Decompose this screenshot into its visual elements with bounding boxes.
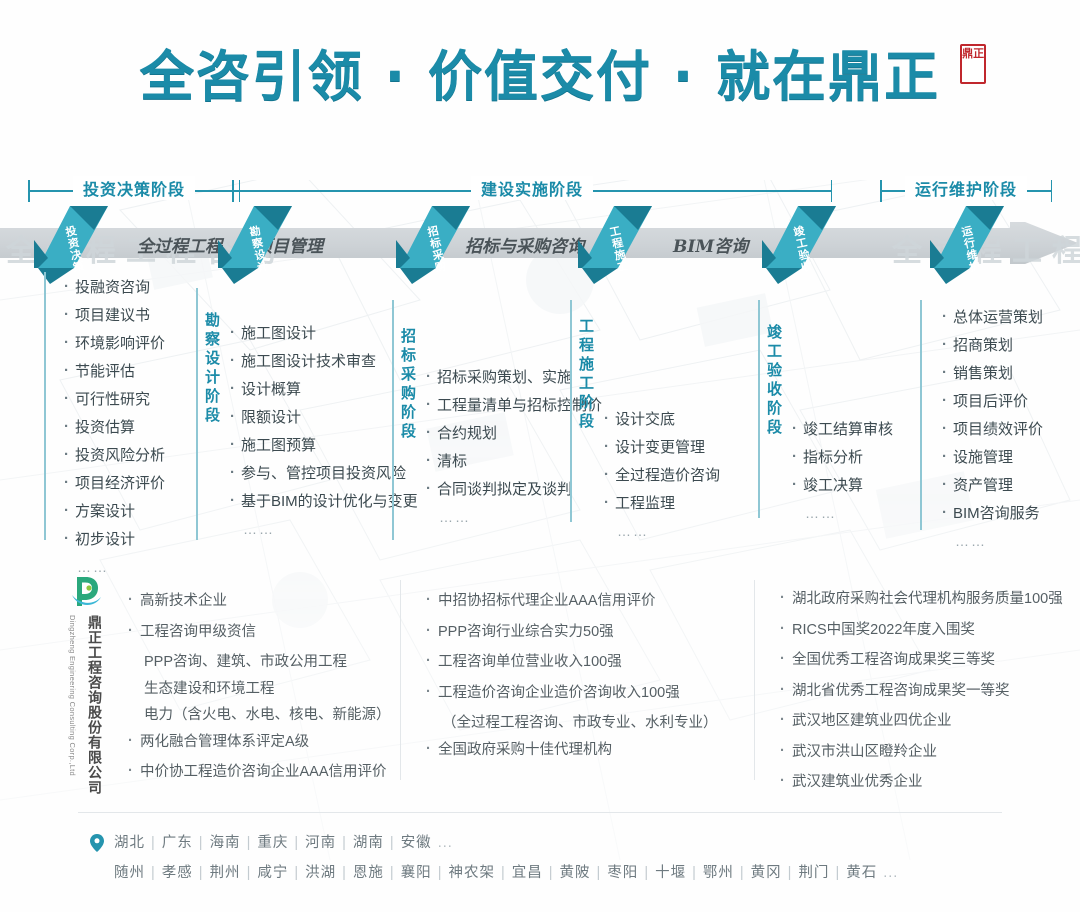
service-item: 施工图设计	[228, 326, 418, 341]
location-city: 宜昌	[512, 865, 543, 881]
separator: |	[336, 865, 353, 881]
service-item: 初步设计	[62, 532, 165, 547]
service-item: 基于BIM的设计优化与变更	[228, 494, 418, 509]
credentials-middle: 中招协招标代理企业AAA信用评价 PPP咨询行业综合实力50强 工程咨询单位营业…	[424, 594, 744, 773]
ribbon-bidding-procurement: 招标采购	[396, 206, 470, 284]
ribbon-construction: 工程施工	[578, 206, 652, 284]
column-rule	[758, 300, 760, 518]
credential-item: 工程咨询单位营业收入100强	[424, 655, 744, 670]
service-item-more: ……	[62, 560, 165, 574]
column-vertical-label: 招标采购阶段	[398, 328, 419, 442]
service-item: 招商策划	[940, 338, 1043, 353]
separator: |	[241, 835, 258, 851]
location-city: 荆州	[210, 865, 241, 881]
location-city: 黄冈	[751, 865, 782, 881]
service-item: 工程监理	[602, 496, 720, 511]
service-item: 竣工结算审核	[790, 422, 893, 437]
location-city: 黄石	[846, 865, 877, 881]
service-item-more: ……	[602, 524, 720, 538]
phase-bracket-operation: 运行维护阶段	[880, 176, 1052, 206]
credential-item: 工程造价咨询企业造价咨询收入100强	[424, 686, 744, 701]
location-province: 河南	[305, 835, 336, 851]
service-item: 项目绩效评价	[940, 422, 1043, 437]
phase-label-operation: 运行维护阶段	[905, 176, 1027, 200]
service-item-more: ……	[790, 506, 893, 520]
separator: |	[193, 865, 210, 881]
column-items: 施工图设计 施工图设计技术审查 设计概算 限额设计 施工图预算 参与、管控项目投…	[228, 326, 418, 549]
location-city: 随州	[114, 865, 145, 881]
credential-item: 武汉建筑业优秀企业	[778, 775, 1078, 790]
service-item: 参与、管控项目投资风险	[228, 466, 418, 481]
service-item: 方案设计	[62, 504, 165, 519]
column-rule	[920, 300, 922, 530]
band-label-whole-process: 全过程工程	[137, 232, 222, 257]
service-item: BIM咨询服务	[940, 506, 1043, 521]
service-item: 设计变更管理	[602, 440, 720, 455]
credential-item: 工程咨询甲级资信	[126, 625, 396, 640]
service-item: 投资估算	[62, 420, 165, 435]
service-item-more: ……	[424, 510, 602, 524]
location-province: 湖北	[114, 835, 145, 851]
separator: |	[193, 835, 210, 851]
service-item: 施工图预算	[228, 438, 418, 453]
band-label-bidding-procurement: 招标与采购咨询	[465, 232, 584, 257]
column-rule	[44, 272, 46, 540]
column-rule	[392, 300, 394, 540]
location-city: 恩施	[353, 865, 384, 881]
company-seal-stamp: 鼎正	[960, 44, 986, 84]
location-city: 咸宁	[257, 865, 288, 881]
service-item: 项目经济评价	[62, 476, 165, 491]
bracket-cap-left	[28, 180, 30, 202]
page-title-text: 全咨引领 · 价值交付 · 就在鼎正	[140, 45, 940, 108]
locations-cities-more: ...	[877, 865, 898, 881]
credential-subitem: PPP咨询、建筑、市政公用工程	[126, 655, 396, 670]
column-rule	[570, 300, 572, 522]
credential-subitem: （全过程工程咨询、市政专业、水利专业）	[424, 716, 744, 731]
separator: |	[384, 835, 401, 851]
locations-block: 湖北|广东|海南|重庆|河南|湖南|安徽... 随州|孝感|荆州|咸宁|洪湖|恩…	[114, 828, 898, 888]
phase-brackets: 投资决策阶段 建设实施阶段 运行维护阶段	[0, 176, 1080, 208]
credential-item: 中招协招标代理企业AAA信用评价	[424, 594, 744, 609]
credentials-divider-left	[400, 580, 401, 780]
separator: |	[288, 865, 305, 881]
location-province: 广东	[162, 835, 193, 851]
locations-provinces-row: 湖北|广东|海南|重庆|河南|湖南|安徽...	[114, 828, 898, 858]
location-city: 襄阳	[401, 865, 432, 881]
column-items: 总体运营策划 招商策划 销售策划 项目后评价 项目绩效评价 设施管理 资产管理 …	[940, 310, 1043, 561]
band-label-bim: BIM咨询	[673, 232, 748, 257]
locations-cities-row: 随州|孝感|荆州|咸宁|洪湖|恩施|襄阳|神农架|宜昌|黄陂|枣阳|十堰|鄂州|…	[114, 858, 898, 888]
service-item: 项目建议书	[62, 308, 165, 323]
service-item: 项目后评价	[940, 394, 1043, 409]
separator: |	[543, 865, 560, 881]
separator: |	[241, 865, 258, 881]
location-city: 荆门	[798, 865, 829, 881]
service-item: 设计交底	[602, 412, 720, 427]
location-city: 神农架	[448, 865, 495, 881]
service-item: 投资风险分析	[62, 448, 165, 463]
service-item: 合同谈判拟定及谈判	[424, 482, 602, 497]
location-province: 海南	[210, 835, 241, 851]
separator: |	[384, 865, 401, 881]
location-city: 洪湖	[305, 865, 336, 881]
ribbon-survey-design: 勘察设计	[218, 206, 292, 284]
credential-item: RICS中国奖2022年度入围奖	[778, 623, 1078, 638]
service-item: 总体运营策划	[940, 310, 1043, 325]
bracket-cap-left	[880, 180, 882, 202]
separator: |	[591, 865, 608, 881]
phase-label-construction: 建设实施阶段	[471, 176, 593, 200]
locations-divider	[78, 812, 1002, 813]
credential-item: 高新技术企业	[126, 594, 396, 609]
separator: |	[145, 835, 162, 851]
bracket-cap-right	[1051, 180, 1053, 202]
phase-bracket-construction: 建设实施阶段	[232, 176, 832, 206]
credential-item: 湖北政府采购社会代理机构服务质量100强	[778, 592, 1078, 607]
column-rule	[196, 288, 198, 540]
infographic-page: 全咨引领 · 价值交付 · 就在鼎正 鼎正 投资决策阶段 建设实施阶段 运行维护…	[0, 0, 1080, 912]
location-province: 湖南	[353, 835, 384, 851]
column-items: 设计交底 设计变更管理 全过程造价咨询 工程监理 ……	[602, 412, 720, 551]
separator: |	[734, 865, 751, 881]
page-title-wrap: 全咨引领 · 价值交付 · 就在鼎正 鼎正	[0, 46, 1080, 108]
credential-subitem: 电力（含火电、水电、核电、新能源）	[126, 708, 396, 723]
location-city: 枣阳	[607, 865, 638, 881]
location-province: 重庆	[257, 835, 288, 851]
credentials-left: 高新技术企业 工程咨询甲级资信 PPP咨询、建筑、市政公用工程 生态建设和环境工…	[126, 594, 396, 796]
bracket-cap-left	[232, 180, 234, 202]
separator: |	[336, 835, 353, 851]
column-vertical-label: 工程施工阶段	[576, 318, 597, 432]
service-item: 限额设计	[228, 410, 418, 425]
service-item: 设施管理	[940, 450, 1043, 465]
location-city: 十堰	[655, 865, 686, 881]
page-title: 全咨引领 · 价值交付 · 就在鼎正 鼎正	[140, 46, 940, 108]
service-item: 设计概算	[228, 382, 418, 397]
credential-item: 湖北省优秀工程咨询成果奖一等奖	[778, 684, 1078, 699]
separator: |	[686, 865, 703, 881]
service-item: 销售策划	[940, 366, 1043, 381]
credential-item: 武汉市洪山区瞪羚企业	[778, 745, 1078, 760]
company-logo-icon	[70, 575, 102, 609]
service-item: 竣工决算	[790, 478, 893, 493]
separator: |	[782, 865, 799, 881]
column-items: 竣工结算审核 指标分析 竣工决算 ……	[790, 422, 893, 533]
credentials-right: 湖北政府采购社会代理机构服务质量100强 RICS中国奖2022年度入围奖 全国…	[778, 592, 1078, 806]
bracket-cap-right	[831, 180, 833, 202]
company-name-en: Dingzheng Engineering Consulting Corp.,L…	[68, 615, 77, 776]
service-item: 全过程造价咨询	[602, 468, 720, 483]
credential-item: 全国政府采购十佳代理机构	[424, 743, 744, 758]
credential-subitem: 生态建设和环境工程	[126, 682, 396, 697]
location-city: 孝感	[162, 865, 193, 881]
service-item: 清标	[424, 454, 602, 469]
service-item-more: ……	[228, 522, 418, 536]
location-city: 鄂州	[703, 865, 734, 881]
phase-label-investment: 投资决策阶段	[73, 176, 195, 200]
locations-provinces-more: ...	[432, 835, 453, 851]
separator: |	[495, 865, 512, 881]
credential-item: PPP咨询行业综合实力50强	[424, 625, 744, 640]
credential-item: 两化融合管理体系评定A级	[126, 735, 396, 750]
ribbon-operation-maintenance: 运行维护	[930, 206, 1004, 284]
separator: |	[288, 835, 305, 851]
phase-bracket-investment: 投资决策阶段	[28, 176, 240, 206]
column-vertical-label: 勘察设计阶段	[202, 312, 223, 426]
service-item: 投融资咨询	[62, 280, 165, 295]
column-vertical-label: 竣工验收阶段	[764, 324, 785, 438]
service-item: 环境影响评价	[62, 336, 165, 351]
company-logo-block: 鼎正工程咨询股份有限公司 Dingzheng Engineering Consu…	[66, 575, 114, 614]
separator: |	[432, 865, 449, 881]
separator: |	[145, 865, 162, 881]
company-name-cn: 鼎正工程咨询股份有限公司	[84, 615, 104, 795]
credential-item: 全国优秀工程咨询成果奖三等奖	[778, 653, 1078, 668]
location-city: 黄陂	[560, 865, 591, 881]
credentials-divider-right	[754, 580, 755, 780]
service-item-more: ……	[940, 534, 1043, 548]
credential-item: 武汉地区建筑业四优企业	[778, 714, 1078, 729]
location-pin-icon	[90, 834, 104, 852]
service-item: 可行性研究	[62, 392, 165, 407]
location-province: 安徽	[401, 835, 432, 851]
column-items: 投融资咨询 项目建议书 环境影响评价 节能评估 可行性研究 投资估算 投资风险分…	[62, 280, 165, 587]
service-item: 指标分析	[790, 450, 893, 465]
service-item: 节能评估	[62, 364, 165, 379]
separator: |	[638, 865, 655, 881]
ribbon-completion-acceptance: 竣工验收	[762, 206, 836, 284]
credential-item: 中价协工程造价咨询企业AAA信用评价	[126, 765, 396, 780]
service-item: 施工图设计技术审查	[228, 354, 418, 369]
separator: |	[829, 865, 846, 881]
service-item: 资产管理	[940, 478, 1043, 493]
